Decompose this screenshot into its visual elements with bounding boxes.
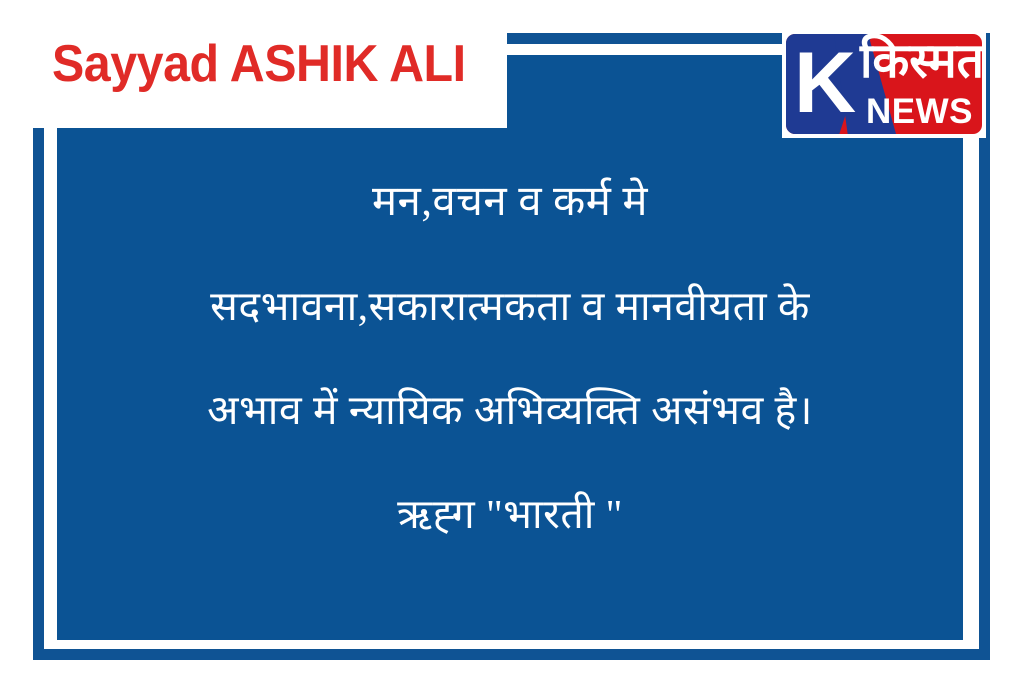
author-name-banner: Sayyad ASHIK ALI — [0, 0, 507, 128]
logo-brand-news: NEWS — [866, 94, 973, 129]
quote-text-block: मन,वचन व कर्म मे सदभावना,सकारात्मकता व म… — [57, 150, 963, 566]
logo-plate: K किस्मत NEWS — [786, 34, 982, 134]
author-name: Sayyad ASHIK ALI — [52, 38, 466, 90]
news-quote-poster: मन,वचन व कर्म मे सदभावना,सकारात्मकता व म… — [0, 0, 1024, 699]
quote-line-1: मन,वचन व कर्म मे — [57, 150, 963, 254]
quote-line-3: अभाव में न्यायिक अभिव्यक्ति असंभव है। — [57, 358, 963, 462]
quote-attribution: ऋह्ग "भारती " — [57, 462, 963, 566]
quote-line-2: सदभावना,सकारात्मकता व मानवीयता के — [57, 254, 963, 358]
logo-brand-hindi: किस्मत — [860, 38, 982, 86]
kismat-news-logo: K किस्मत NEWS — [782, 30, 986, 138]
logo-monogram-k: K — [794, 40, 853, 126]
